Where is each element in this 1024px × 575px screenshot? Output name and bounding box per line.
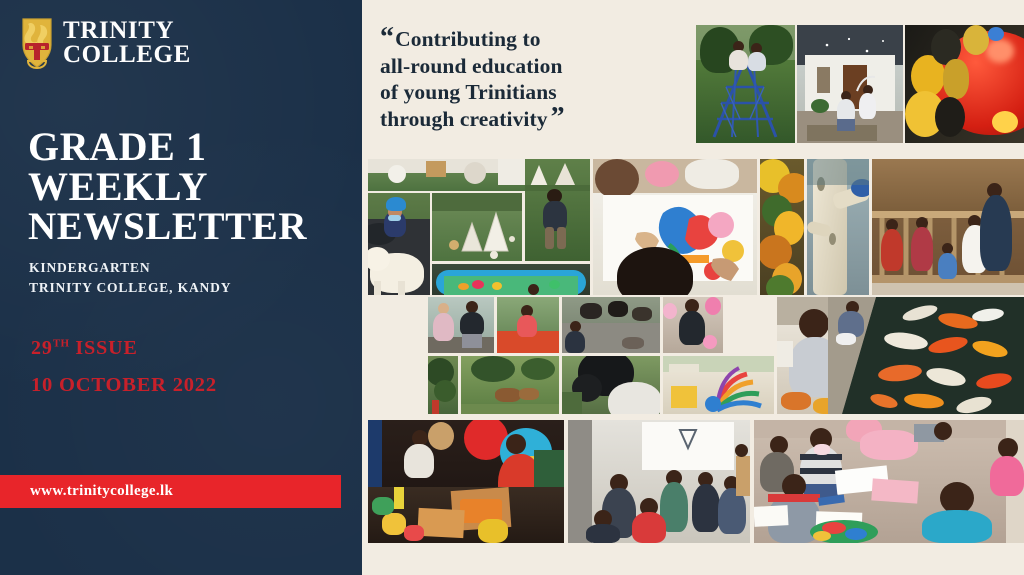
photo-koi-fish-pond [828, 297, 1024, 414]
brand-logo: TRINITY COLLEGE [20, 16, 191, 70]
quote-line-4: through creativity [380, 107, 548, 131]
subtitle: KINDERGARTEN TRINITY COLLEGE, KANDY [29, 258, 231, 297]
photo-children-on-climbing-frame [696, 25, 795, 143]
quote-line-2: all-round education [380, 54, 563, 78]
tagline-quote: “Contributing toall-round educationof yo… [380, 26, 682, 133]
website-url[interactable]: www.trinitycollege.lk [30, 483, 173, 500]
photo-animals-in-field [461, 356, 559, 414]
photo-red-balloon-decorations [905, 25, 1024, 143]
photo-children-at-wooden-railing [872, 159, 1024, 295]
photo-inflatable-paddling-pool [432, 264, 590, 295]
title-line-2: WEEKLY [28, 167, 307, 207]
title-line-1: GRADE 1 [28, 127, 307, 167]
content-panel: “Contributing toall-round educationof yo… [362, 0, 1024, 575]
photo-children-playing-outside-house [797, 25, 903, 143]
brand-name: TRINITY COLLEGE [63, 19, 191, 67]
quote-open-mark: “ [380, 22, 394, 53]
issue-ordinal-suffix: TH [53, 337, 70, 349]
quote-line-3: of young Trinitians [380, 80, 557, 104]
photo-child-walking-on-grass [525, 159, 590, 261]
issue-number: 29 [31, 337, 53, 359]
photo-black-dog-close-up [562, 356, 660, 414]
photo-peacock-craft-artwork [663, 356, 774, 414]
quote-close-mark: ” [551, 102, 565, 133]
subtitle-line-1: KINDERGARTEN [29, 258, 231, 278]
brand-line-1: TRINITY [63, 19, 191, 43]
photo-children-painting-artwork [593, 159, 757, 295]
issue-date: 10 OCTOBER 2022 [31, 374, 217, 397]
brand-line-2: COLLEGE [63, 43, 191, 67]
issue-number-line: 29TH ISSUE [31, 337, 217, 360]
photo-child-in-red-outfit [497, 297, 559, 353]
photo-camping-tents-on-lawn [432, 193, 522, 261]
quote-line-1: Contributing to [395, 27, 540, 51]
issue-info: 29TH ISSUE 10 OCTOBER 2022 [31, 337, 217, 397]
photo-dogs-on-street [562, 297, 660, 353]
photo-party-food-table-with-children [368, 420, 564, 543]
left-title-panel: TRINITY COLLEGE GRADE 1 WEEKLY NEWSLETTE… [0, 0, 362, 575]
photo-classroom-presentation [568, 420, 750, 543]
subtitle-line-2: TRINITY COLLEGE, KANDY [29, 278, 231, 298]
photo-white-tree-trunk [807, 159, 869, 295]
photo-nature-trees [428, 356, 458, 414]
photo-girl-with-balloons [663, 297, 723, 353]
page-title: GRADE 1 WEEKLY NEWSLETTER [28, 127, 307, 246]
trinity-college-crest-icon [20, 16, 54, 70]
issue-label: ISSUE [75, 337, 137, 359]
title-line-3: NEWSLETTER [28, 207, 307, 246]
photo-colourful-craft-materials [760, 159, 804, 295]
photo-two-children-standing [428, 297, 494, 353]
photo-children-crafting-on-floor [754, 420, 1024, 543]
photo-child-riding-toy-horse [368, 193, 430, 295]
website-banner[interactable]: www.trinitycollege.lk [0, 475, 341, 508]
